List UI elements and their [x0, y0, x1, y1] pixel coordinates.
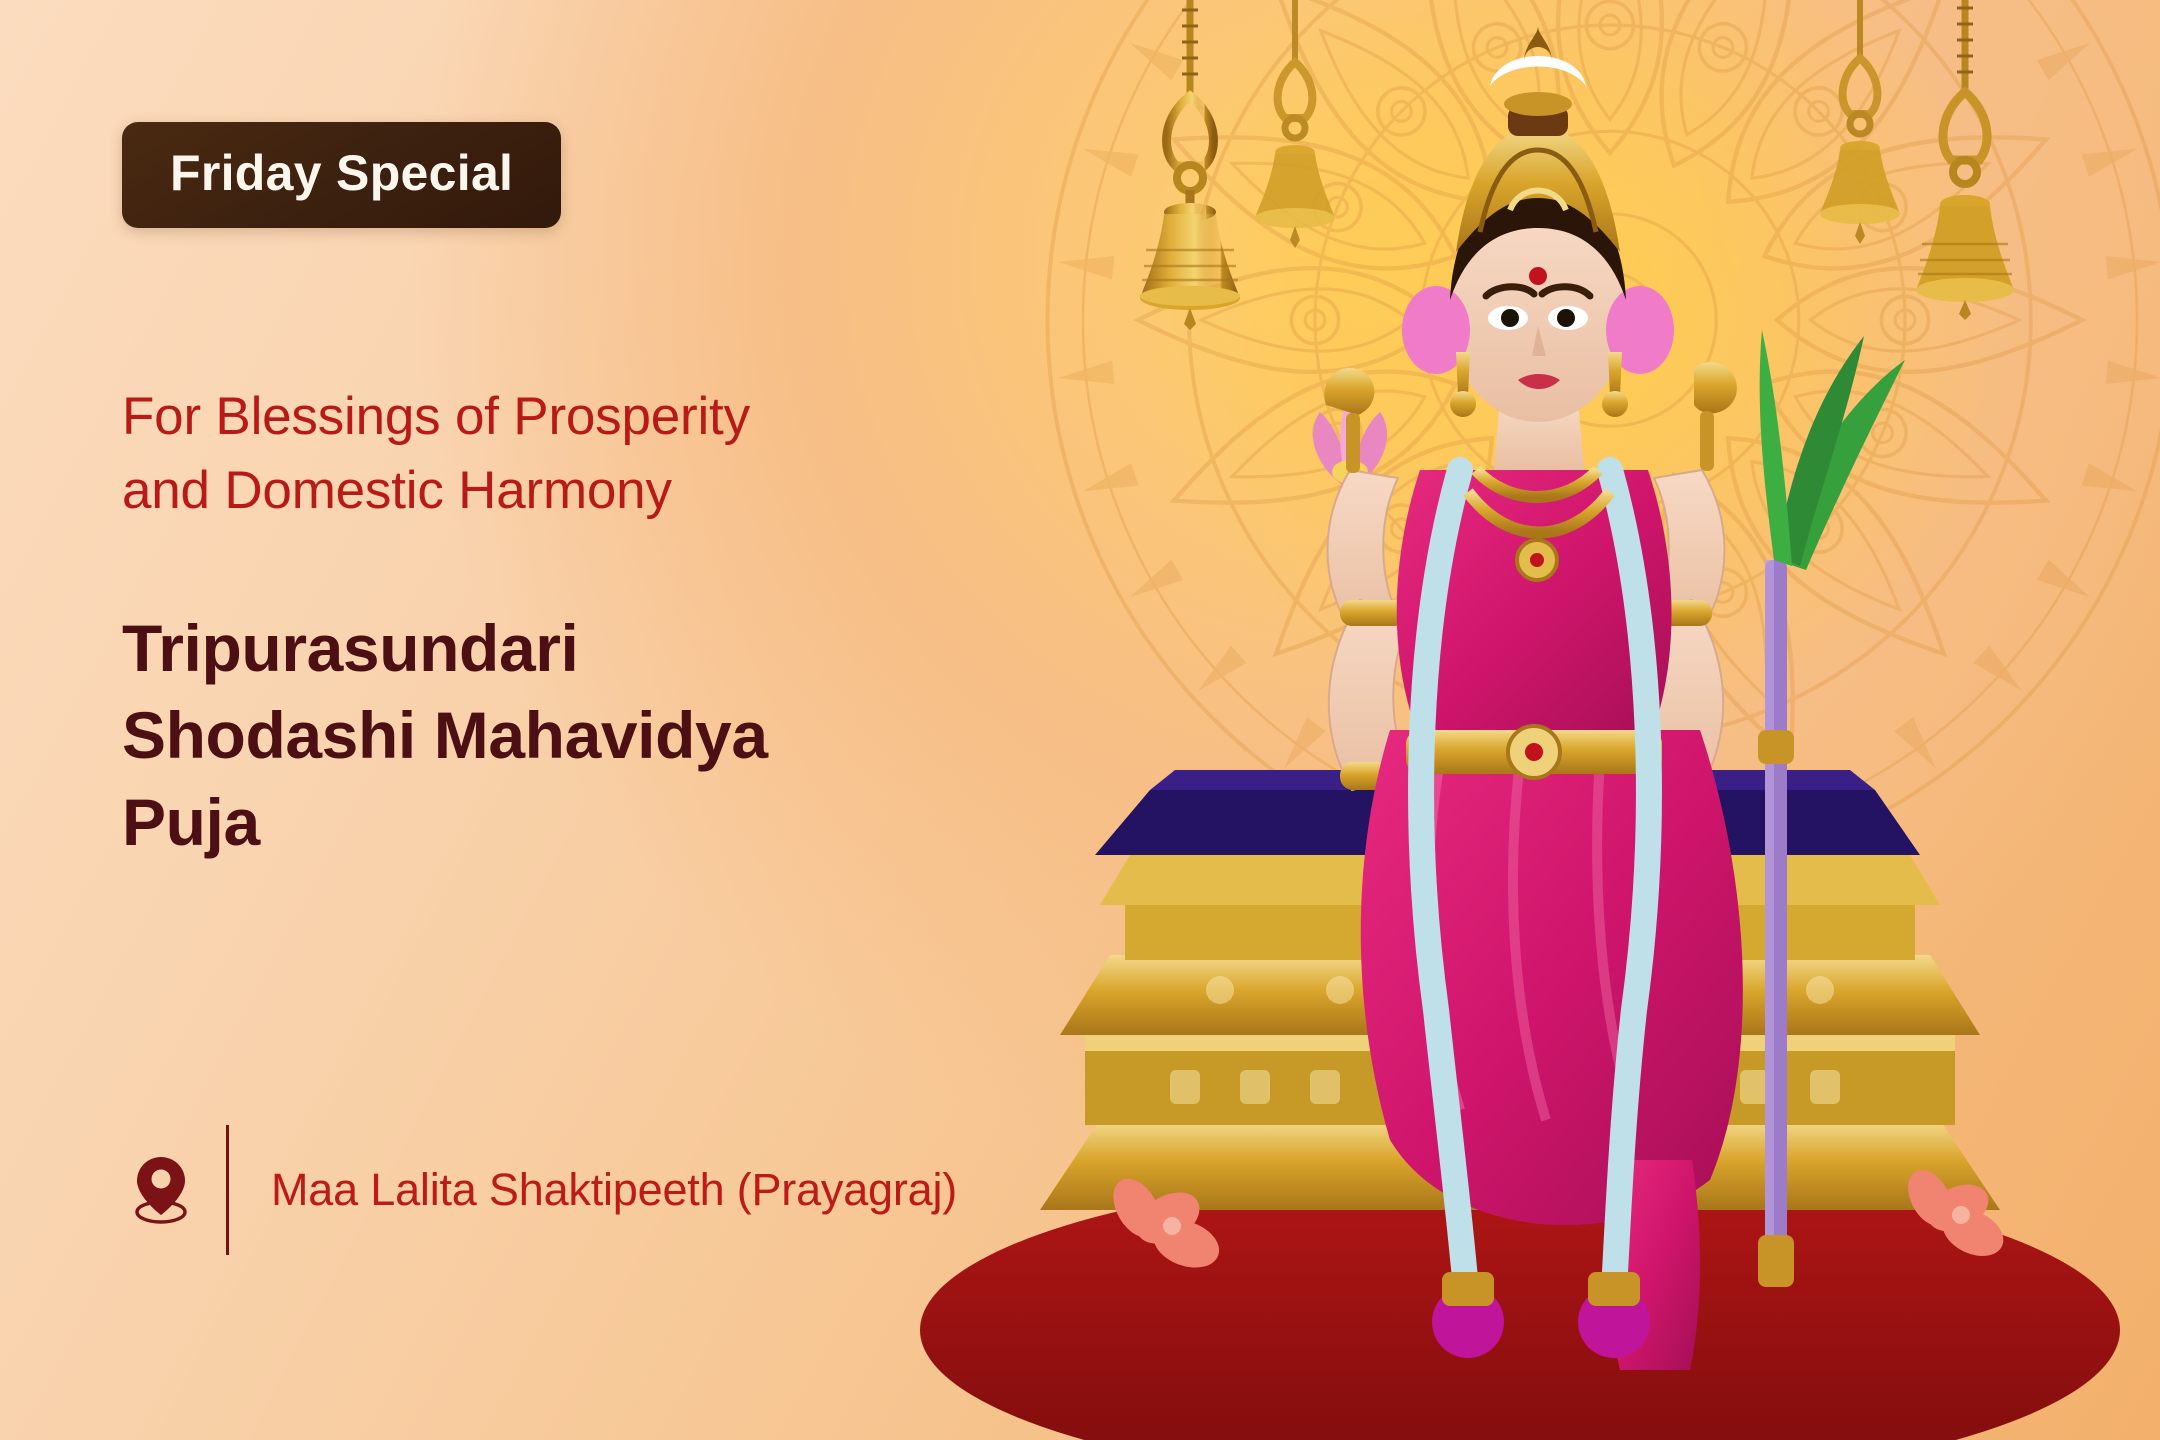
temple-bell-icon — [1235, 0, 1355, 250]
subtitle: For Blessings of Prosperity and Domestic… — [122, 380, 1002, 528]
promo-banner: Friday Special For Blessings of Prosperi… — [0, 0, 2160, 1440]
title-line-3: Puja — [122, 779, 1002, 866]
goddess-tripurasundari-illustration — [920, 0, 2160, 1440]
text-column: Friday Special For Blessings of Prosperi… — [122, 0, 1022, 1440]
friday-special-badge: Friday Special — [122, 122, 561, 228]
location-divider — [226, 1125, 229, 1255]
temple-bell-icon — [1895, 0, 2035, 320]
badge-label: Friday Special — [170, 148, 513, 198]
location-text: Maa Lalita Shaktipeeth (Prayagraj) — [271, 1164, 957, 1216]
center-glow — [1130, 0, 2030, 770]
subtitle-line-1: For Blessings of Prosperity — [122, 380, 1002, 454]
subtitle-line-2: and Domestic Harmony — [122, 454, 1002, 528]
title-line-1: Tripurasundari — [122, 605, 1002, 692]
mandala-watermark — [1020, 0, 2160, 910]
temple-bell-icon — [1800, 0, 1920, 250]
temple-bell-icon — [1120, 0, 1260, 330]
location-pin-icon — [122, 1153, 200, 1227]
title-line-2: Shodashi Mahavidya — [122, 692, 1002, 779]
page-title: Tripurasundari Shodashi Mahavidya Puja — [122, 605, 1002, 866]
location-row: Maa Lalita Shaktipeeth (Prayagraj) — [122, 1120, 957, 1260]
